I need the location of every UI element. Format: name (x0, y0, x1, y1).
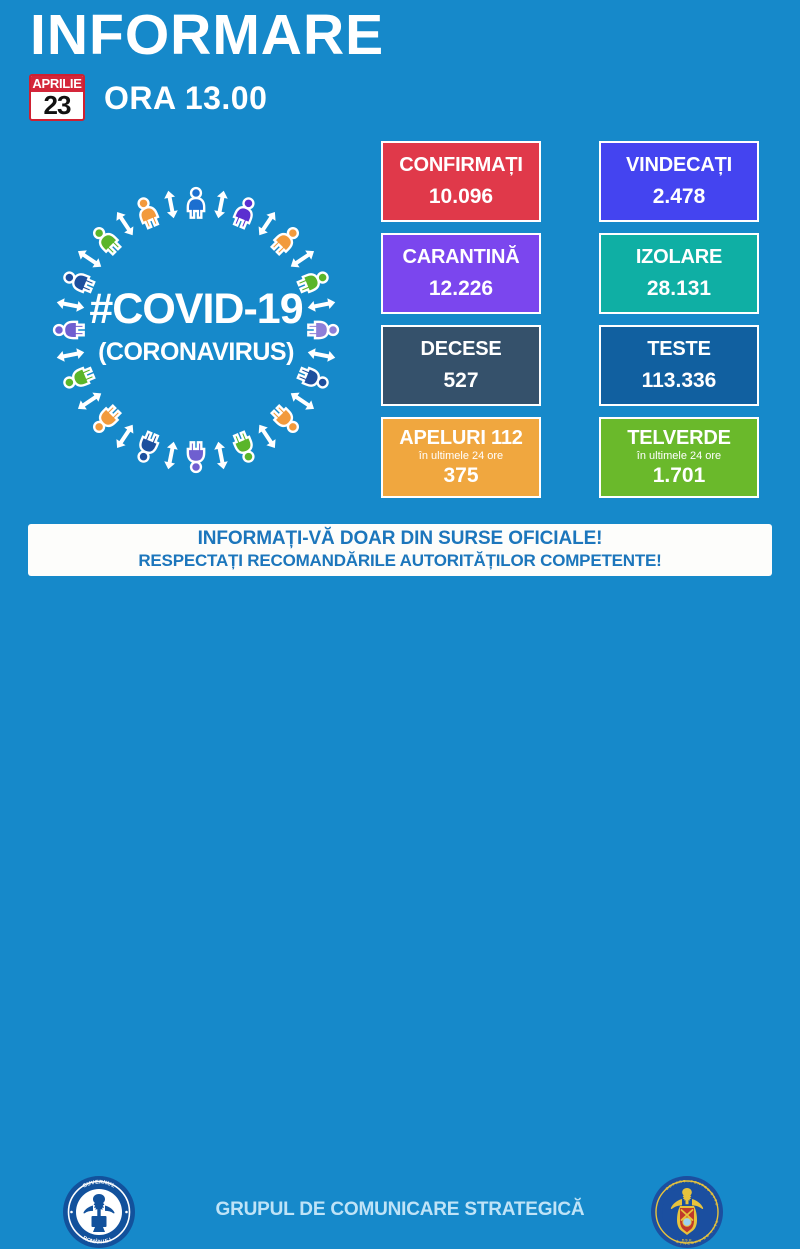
double-arrow-icon (56, 347, 86, 363)
person-icon (231, 431, 257, 465)
stat-subtitle: în ultimele 24 ore (419, 450, 503, 462)
person-icon (188, 442, 204, 472)
double-arrow-icon (288, 389, 317, 414)
double-arrow-icon (255, 422, 280, 451)
stat-box-teste: TESTE113.336 (599, 325, 759, 406)
double-arrow-icon (163, 190, 179, 220)
svg-text:.: . (687, 1179, 688, 1183)
covid-distancing-illustration: #COVID-19 (CORONAVIRUS) (26, 160, 366, 500)
header: INFORMARE APRILIE 23 ORA 13.00 (0, 0, 800, 135)
double-arrow-icon (307, 297, 337, 313)
stat-label: CONFIRMAȚI (399, 154, 523, 176)
banner-line-1: INFORMAȚI-VĂ DOAR DIN SURSE OFICIALE! (198, 529, 603, 550)
double-arrow-icon (75, 247, 104, 272)
double-arrow-icon (213, 441, 229, 471)
double-arrow-icon (75, 389, 104, 414)
double-arrow-icon (288, 247, 317, 272)
covid-headline: #COVID-19 (89, 285, 302, 333)
person-icon (134, 431, 160, 465)
double-arrow-icon (56, 297, 86, 313)
stat-label: DECESE (420, 338, 501, 360)
double-arrow-icon (113, 209, 138, 238)
person-icon (308, 322, 338, 338)
double-arrow-icon (255, 209, 280, 238)
stat-value: 527 (443, 369, 478, 393)
stat-label: CARANTINĂ (402, 246, 519, 268)
stat-box-apeluri-112: APELURI 112în ultimele 24 ore375 (381, 417, 541, 498)
stat-box-carantin: CARANTINĂ12.226 (381, 233, 541, 314)
date-badge-calendar-icon: APRILIE 23 (29, 74, 85, 121)
stat-box-izolare: IZOLARE28.131 (599, 233, 759, 314)
stat-label: TESTE (647, 338, 710, 360)
stat-box-vindeca-i: VINDECAȚI2.478 (599, 141, 759, 222)
stat-box-decese: DECESE527 (381, 325, 541, 406)
double-arrow-icon (113, 422, 138, 451)
stat-label: TELVERDE (627, 427, 731, 449)
date-badge-day: 23 (31, 92, 83, 119)
person-icon (62, 365, 96, 391)
stat-label: IZOLARE (636, 246, 722, 268)
page-title: INFORMARE (30, 6, 384, 66)
stat-value: 1.701 (653, 464, 706, 488)
stat-subtitle: în ultimele 24 ore (637, 450, 721, 462)
government-of-romania-logo: G U V E R N U L R O M Â N I E I (62, 1175, 136, 1249)
stat-box-telverde: TELVERDEîn ultimele 24 ore1.701 (599, 417, 759, 498)
footer: G U V E R N U L R O M Â N I E I GRUPUL D… (0, 585, 800, 671)
footer-organisation-name: GRUPUL DE COMUNICARE STRATEGICĂ (175, 1199, 625, 1221)
person-icon (54, 322, 84, 338)
covid-subline: (CORONAVIRUS) (98, 338, 294, 366)
stat-label: APELURI 112 (399, 427, 522, 449)
emergency-department-logo: D E P A R T . P E N T R U S I T U A Ț I (650, 1175, 724, 1249)
report-hour: ORA 13.00 (104, 80, 267, 117)
svg-text:N: N (98, 1239, 102, 1245)
stat-label: VINDECAȚI (626, 154, 732, 176)
distancing-circle-svg: #COVID-19 (CORONAVIRUS) (26, 160, 366, 500)
double-arrow-icon (307, 347, 337, 363)
svg-text:D.S.U.: D.S.U. (682, 1239, 693, 1243)
person-icon (270, 404, 303, 437)
person-icon (134, 196, 160, 230)
person-icon (231, 196, 257, 230)
double-arrow-icon (213, 190, 229, 220)
stat-value: 375 (443, 464, 478, 488)
person-icon (270, 224, 303, 257)
stat-box-confirma-i: CONFIRMAȚI10.096 (381, 141, 541, 222)
stat-value: 10.096 (429, 185, 493, 209)
banner-line-2: RESPECTAȚI RECOMANDĂRILE AUTORITĂȚILOR C… (138, 551, 661, 571)
double-arrow-icon (163, 441, 179, 471)
statistics-grid: CONFIRMAȚI10.096VINDECAȚI2.478CARANTINĂ1… (381, 141, 759, 498)
person-icon (297, 365, 331, 391)
stat-value: 28.131 (647, 277, 711, 301)
stat-value: 12.226 (429, 277, 493, 301)
stat-value: 2.478 (653, 185, 706, 209)
stat-value: 113.336 (642, 369, 717, 393)
person-icon (188, 188, 204, 218)
official-sources-banner: INFORMAȚI-VĂ DOAR DIN SURSE OFICIALE! RE… (28, 524, 772, 576)
person-icon (90, 404, 123, 437)
person-icon (90, 224, 123, 257)
